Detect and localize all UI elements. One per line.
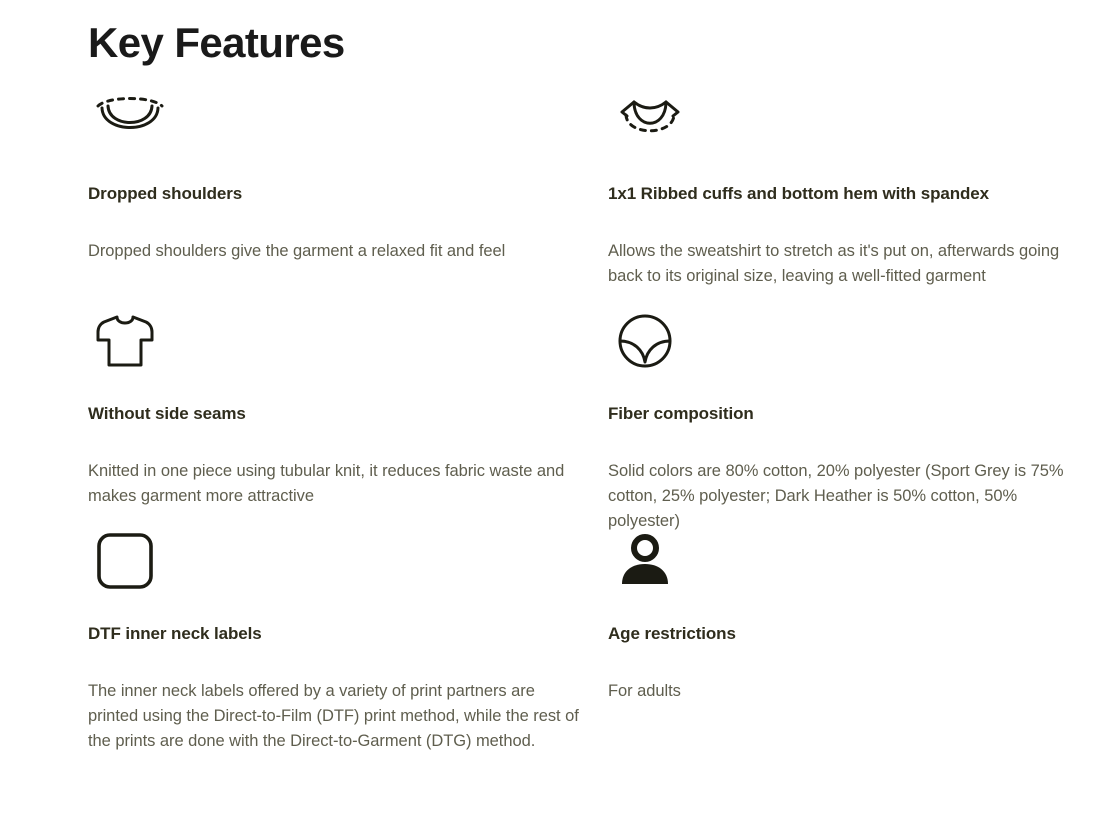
person-icon bbox=[614, 532, 1086, 590]
label-square-icon bbox=[94, 532, 596, 590]
feature-title: Fiber composition bbox=[608, 370, 1086, 426]
feature-card-ribbed-cuffs: 1x1 Ribbed cuffs and bottom hem with spa… bbox=[608, 92, 1098, 312]
fiber-leaf-circle-icon bbox=[614, 312, 1086, 370]
feature-title: Age restrictions bbox=[608, 590, 1086, 646]
feature-title: 1x1 Ribbed cuffs and bottom hem with spa… bbox=[608, 150, 1086, 206]
feature-card-fiber-composition: Fiber composition Solid colors are 80% c… bbox=[608, 312, 1098, 532]
dropped-shoulders-icon bbox=[94, 92, 596, 150]
feature-card-age-restrictions: Age restrictions For adults bbox=[608, 532, 1098, 752]
feature-card-dropped-shoulders: Dropped shoulders Dropped shoulders give… bbox=[88, 92, 608, 312]
feature-description: Solid colors are 80% cotton, 20% polyest… bbox=[608, 426, 1086, 534]
feature-title: Without side seams bbox=[88, 370, 596, 426]
feature-card-dtf-inner-neck-labels: DTF inner neck labels The inner neck lab… bbox=[88, 532, 608, 752]
feature-card-without-side-seams: Without side seams Knitted in one piece … bbox=[88, 312, 608, 532]
feature-title: Dropped shoulders bbox=[88, 150, 596, 206]
key-features-page: Key Features Dropped shoulders Dropped s… bbox=[0, 0, 1117, 818]
tshirt-icon bbox=[94, 312, 596, 370]
feature-description: For adults bbox=[608, 646, 1086, 704]
ribbed-cuffs-icon bbox=[614, 92, 1086, 150]
feature-description: Allows the sweatshirt to stretch as it's… bbox=[608, 206, 1086, 289]
feature-description: Dropped shoulders give the garment a rel… bbox=[88, 206, 588, 264]
page-title: Key Features bbox=[88, 17, 345, 69]
feature-description: The inner neck labels offered by a varie… bbox=[88, 646, 588, 754]
feature-description: Knitted in one piece using tubular knit,… bbox=[88, 426, 588, 509]
feature-title: DTF inner neck labels bbox=[88, 590, 596, 646]
features-grid: Dropped shoulders Dropped shoulders give… bbox=[88, 92, 1098, 752]
